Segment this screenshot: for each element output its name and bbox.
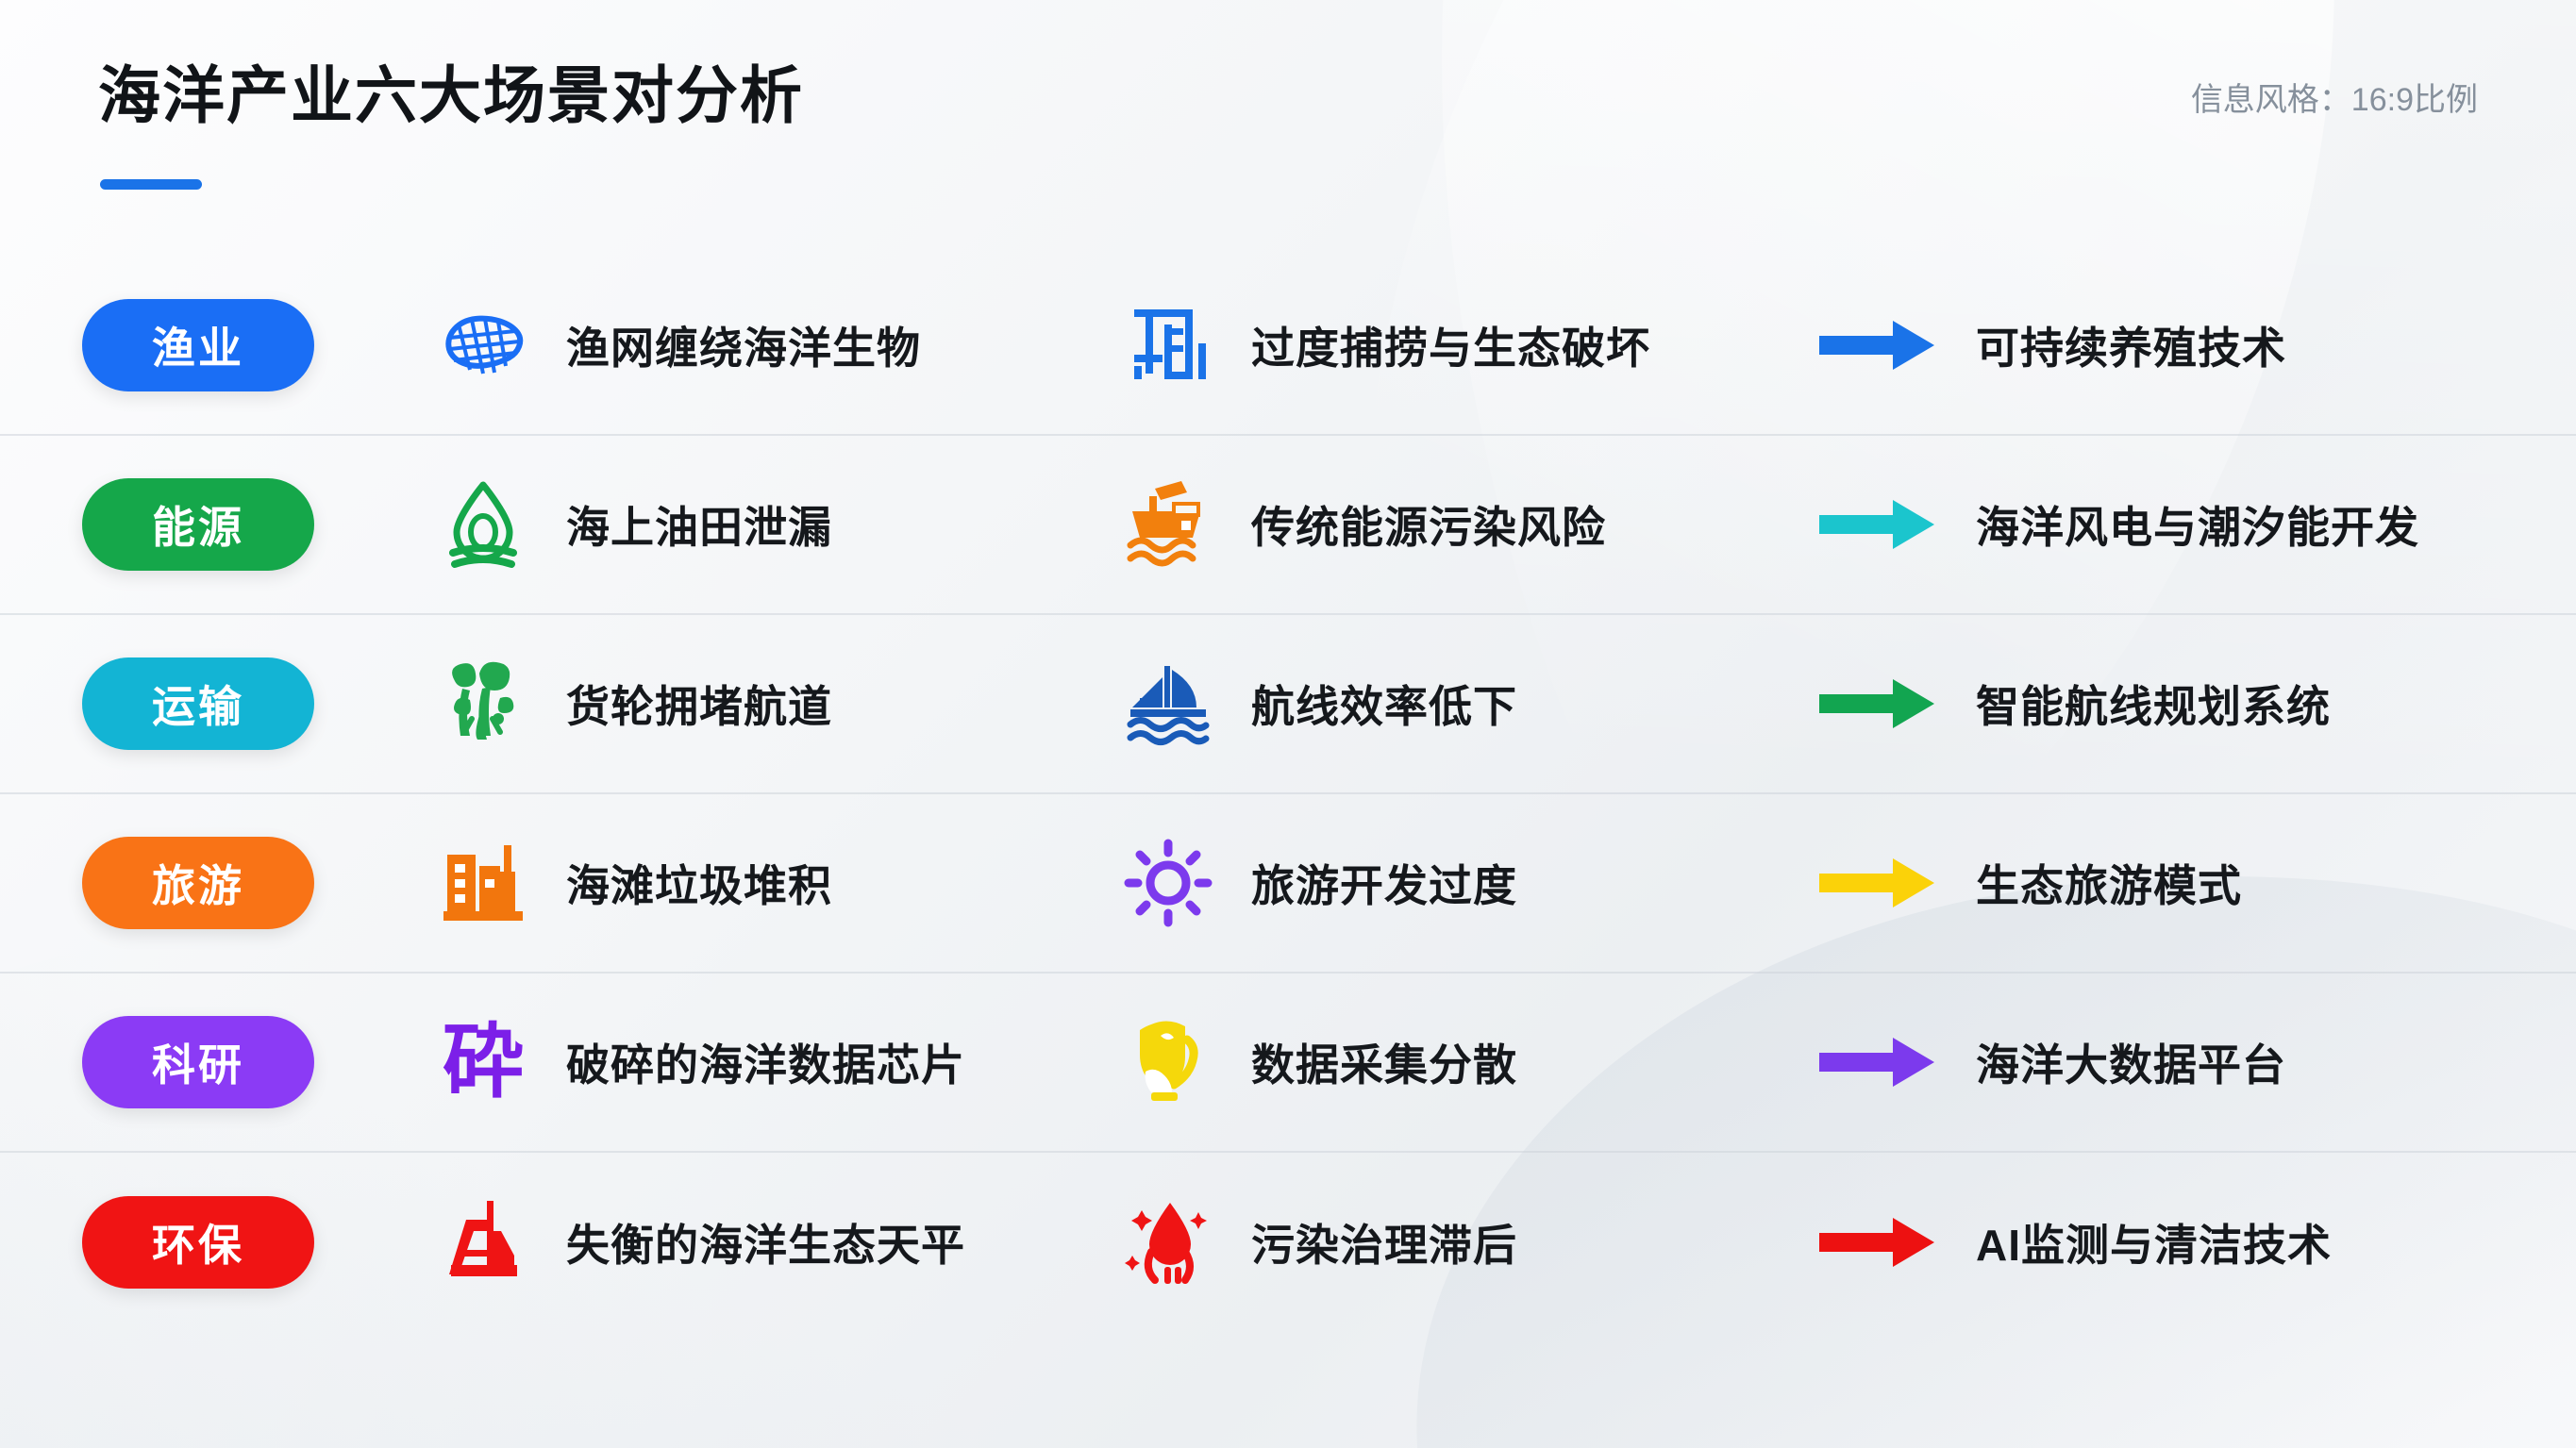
problem-label: 货轮拥堵航道	[566, 673, 832, 735]
broken-chip-glyph-icon: 砕	[434, 1013, 532, 1111]
arrow-right-icon	[1817, 850, 1942, 916]
oil-droplet-icon	[434, 475, 532, 574]
solution-cell: AI监测与清洁技术	[1798, 1209, 2576, 1275]
category-pill-fishery[interactable]: 渔业	[82, 299, 314, 391]
solution-cell: 智能航线规划系统	[1798, 671, 2576, 737]
sun-icon	[1119, 834, 1217, 932]
solution-label: 可持续养殖技术	[1976, 314, 2286, 376]
solution-label: 海洋风电与潮汐能开发	[1976, 493, 2419, 556]
comparison-table: 渔业 渔网缠绕海洋生物	[0, 257, 2576, 1332]
solution-label: 生态旅游模式	[1976, 852, 2242, 914]
problem-label: 破碎的海洋数据芯片	[566, 1031, 965, 1093]
arrow-right-icon	[1817, 491, 1942, 558]
problem-label: 海上油田泄漏	[566, 493, 832, 556]
category-pill-transport[interactable]: 运输	[82, 657, 314, 750]
cause-cell: 航线效率低下	[1095, 655, 1798, 753]
shield-trophy-icon	[1119, 1013, 1217, 1111]
solution-label: 智能航线规划系统	[1976, 673, 2331, 735]
slide-root: 海洋产业六大场景对分析 信息风格：16:9比例 渔业	[0, 0, 2576, 1448]
solution-label: 海洋大数据平台	[1976, 1031, 2286, 1093]
table-row: 环保 失衡的海洋生态天平	[0, 1153, 2576, 1332]
solution-cell: 海洋大数据平台	[1798, 1029, 2576, 1095]
category-cell: 环保	[0, 1196, 396, 1289]
category-cell: 能源	[0, 478, 396, 571]
arrow-right-icon	[1817, 1209, 1942, 1275]
category-cell: 渔业	[0, 299, 396, 391]
problem-cell: 渔网缠绕海洋生物	[396, 296, 1095, 394]
category-pill-tourism[interactable]: 旅游	[82, 837, 314, 929]
cause-label: 传统能源污染风险	[1251, 493, 1606, 556]
pollution-droplet-icon	[1119, 1193, 1217, 1291]
problem-cell: 失衡的海洋生态天平	[396, 1193, 1095, 1291]
sailboat-icon	[1119, 655, 1217, 753]
problem-cell: 砕 破碎的海洋数据芯片	[396, 1013, 1095, 1111]
problem-cell: 海滩垃圾堆积	[396, 834, 1095, 932]
category-cell: 旅游	[0, 837, 396, 929]
problem-cell: 海上油田泄漏	[396, 475, 1095, 574]
table-row: 科研 砕 破碎的海洋数据芯片 数据采集分散	[0, 974, 2576, 1153]
problem-label: 海滩垃圾堆积	[566, 852, 832, 914]
cause-cell: 传统能源污染风险	[1095, 475, 1798, 574]
cause-cell: 旅游开发过度	[1095, 834, 1798, 932]
category-pill-research[interactable]: 科研	[82, 1016, 314, 1108]
page-title: 海洋产业六大场景对分析	[98, 45, 804, 136]
oil-rig-boat-icon	[1119, 475, 1217, 574]
slide-header: 海洋产业六大场景对分析 信息风格：16:9比例	[0, 0, 2576, 236]
cause-label: 旅游开发过度	[1251, 852, 1517, 914]
arrow-right-icon	[1817, 671, 1942, 737]
problem-label: 渔网缠绕海洋生物	[566, 314, 921, 376]
solution-cell: 可持续养殖技术	[1798, 312, 2576, 378]
table-row: 运输	[0, 615, 2576, 794]
arrow-right-icon	[1817, 1029, 1942, 1095]
solution-label: AI监测与清洁技术	[1976, 1211, 2332, 1273]
seaweed-coral-icon	[434, 655, 532, 753]
ratio-note: 信息风格：16:9比例	[2191, 74, 2478, 120]
arrow-right-icon	[1817, 312, 1942, 378]
solution-cell: 生态旅游模式	[1798, 850, 2576, 916]
problem-cell: 货轮拥堵航道	[396, 655, 1095, 753]
fishing-net-icon	[434, 296, 532, 394]
broken-chip-glyph-text: 砕	[443, 1022, 524, 1103]
solution-cell: 海洋风电与潮汐能开发	[1798, 491, 2576, 558]
cause-cell: 过度捕捞与生态破坏	[1095, 296, 1798, 394]
balance-scale-icon	[434, 1193, 532, 1291]
table-row: 能源 海上油田泄漏	[0, 436, 2576, 615]
category-pill-energy[interactable]: 能源	[82, 478, 314, 571]
cause-cell: 污染治理滞后	[1095, 1193, 1798, 1291]
category-pill-environment[interactable]: 环保	[82, 1196, 314, 1289]
problem-label: 失衡的海洋生态天平	[566, 1211, 965, 1273]
cause-label: 过度捕捞与生态破坏	[1251, 314, 1650, 376]
title-accent-bar	[100, 179, 202, 190]
category-cell: 运输	[0, 657, 396, 750]
cause-cell: 数据采集分散	[1095, 1013, 1798, 1111]
overfishing-chart-icon	[1119, 296, 1217, 394]
table-row: 旅游	[0, 794, 2576, 974]
factory-building-icon	[434, 834, 532, 932]
cause-label: 航线效率低下	[1251, 673, 1517, 735]
cause-label: 数据采集分散	[1251, 1031, 1517, 1093]
category-cell: 科研	[0, 1016, 396, 1108]
cause-label: 污染治理滞后	[1251, 1211, 1517, 1273]
table-row: 渔业 渔网缠绕海洋生物	[0, 257, 2576, 436]
